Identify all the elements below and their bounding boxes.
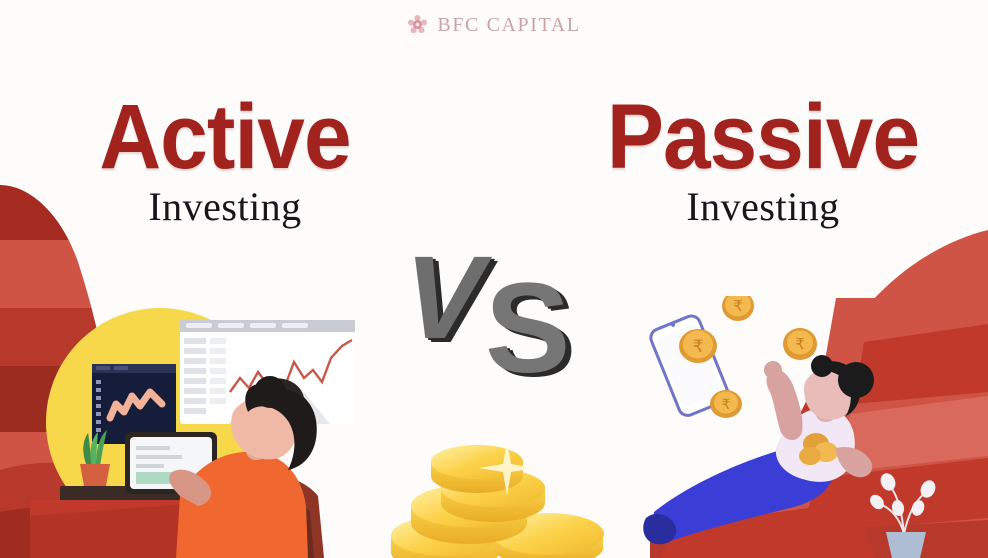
active-subtitle: Investing	[60, 186, 390, 228]
passive-subtitle: Investing	[578, 186, 948, 228]
passive-title: Passive	[591, 92, 935, 182]
svg-text:₹: ₹	[693, 337, 704, 356]
passive-headline: Passive Investing	[578, 92, 948, 228]
brand-name: BFC CAPITAL	[437, 15, 580, 35]
brand-logo: BFC CAPITAL	[0, 14, 988, 35]
active-title: Active	[72, 92, 379, 182]
svg-text:₹: ₹	[722, 398, 731, 413]
svg-text:V: V	[404, 236, 493, 364]
gold-coin-stack-icon	[385, 438, 605, 558]
poster-canvas: BFC CAPITAL Active Investing Passive Inv…	[0, 0, 988, 558]
svg-text:₹: ₹	[795, 337, 805, 353]
passive-investor-illustration: ₹ ₹ ₹ ₹	[640, 296, 988, 558]
flower-emblem-icon	[407, 14, 428, 35]
active-investor-illustration	[30, 300, 390, 558]
svg-text:S: S	[485, 257, 570, 386]
versus-badge: V V V S S S	[404, 236, 594, 386]
active-headline: Active Investing	[60, 92, 390, 228]
svg-text:₹: ₹	[733, 299, 743, 315]
